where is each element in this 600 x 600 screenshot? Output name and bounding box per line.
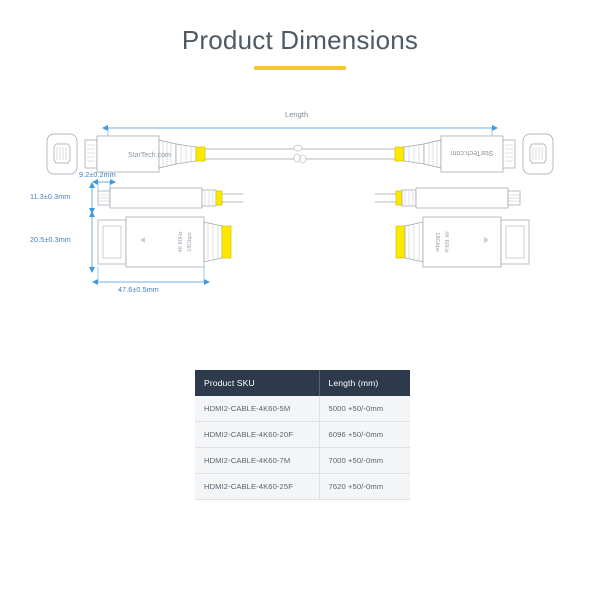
table-row: HDMI2-CABLE-4K60-7M 7000 +50/-0mm bbox=[195, 448, 410, 474]
table-row: HDMI2-CABLE-4K60-25F 7620 +50/-0mm bbox=[195, 474, 410, 500]
spec-label-right-2: 18Gbps bbox=[434, 232, 440, 252]
dimension-line-connector-length bbox=[98, 267, 204, 282]
table-row: HDMI2-CABLE-4K60-20F 6096 +50/-0mm bbox=[195, 422, 410, 448]
product-sku-table-container: Product SKU Length (mm) HDMI2-CABLE-4K60… bbox=[195, 370, 410, 500]
table-row: HDMI2-CABLE-4K60-5M 5000 +50/-0mm bbox=[195, 396, 410, 422]
product-dimension-diagram: StarTech.com StarTech.com 4K 60Hz 18Gbps… bbox=[0, 96, 600, 326]
dimension-label-length: Length bbox=[285, 110, 308, 119]
column-header-length: Length (mm) bbox=[319, 370, 410, 396]
connector-edge-view-right bbox=[375, 188, 520, 208]
connector-top-view-left bbox=[98, 217, 231, 267]
cell-length: 6096 +50/-0mm bbox=[319, 422, 410, 448]
product-sku-table: Product SKU Length (mm) HDMI2-CABLE-4K60… bbox=[195, 370, 410, 500]
dimension-label-depth: 9.2±0.2mm bbox=[79, 170, 116, 179]
brand-label-left: StarTech.com bbox=[128, 152, 171, 159]
brand-label-right: StarTech.com bbox=[450, 149, 493, 156]
table-header-row: Product SKU Length (mm) bbox=[195, 370, 410, 396]
cell-sku: HDMI2-CABLE-4K60-20F bbox=[195, 422, 319, 448]
page-title: Product Dimensions bbox=[0, 26, 600, 55]
cell-sku: HDMI2-CABLE-4K60-7M bbox=[195, 448, 319, 474]
connector-edge-view-left bbox=[98, 188, 243, 208]
cell-sku: HDMI2-CABLE-4K60-5M bbox=[195, 396, 319, 422]
dimension-line-length bbox=[108, 128, 492, 136]
dimension-label-width: 20.5±0.3mm bbox=[30, 235, 71, 244]
connector-face-view-right bbox=[523, 134, 553, 174]
cell-length: 7000 +50/-0mm bbox=[319, 448, 410, 474]
cell-length: 5000 +50/-0mm bbox=[319, 396, 410, 422]
title-accent-rule bbox=[254, 66, 346, 70]
connector-top-view-right bbox=[396, 217, 529, 267]
page-header: Product Dimensions bbox=[0, 26, 600, 70]
dimension-line-depth bbox=[98, 182, 110, 191]
cell-length: 7620 +50/-0mm bbox=[319, 474, 410, 500]
cable-body bbox=[205, 145, 395, 163]
spec-label-left-2: 18Gbps bbox=[187, 232, 193, 252]
spec-label-left-1: 4K 60Hz bbox=[178, 231, 184, 253]
cable-drawing-svg: StarTech.com StarTech.com 4K 60Hz 18Gbps… bbox=[0, 96, 600, 326]
dimension-label-connector-length: 47.6±0.5mm bbox=[118, 285, 159, 294]
dimension-label-height: 11.3±0.3mm bbox=[30, 192, 70, 201]
column-header-sku: Product SKU bbox=[195, 370, 319, 396]
spec-label-right-1: 4K 60Hz bbox=[443, 231, 449, 253]
cell-sku: HDMI2-CABLE-4K60-25F bbox=[195, 474, 319, 500]
connector-face-view-left bbox=[47, 134, 77, 174]
